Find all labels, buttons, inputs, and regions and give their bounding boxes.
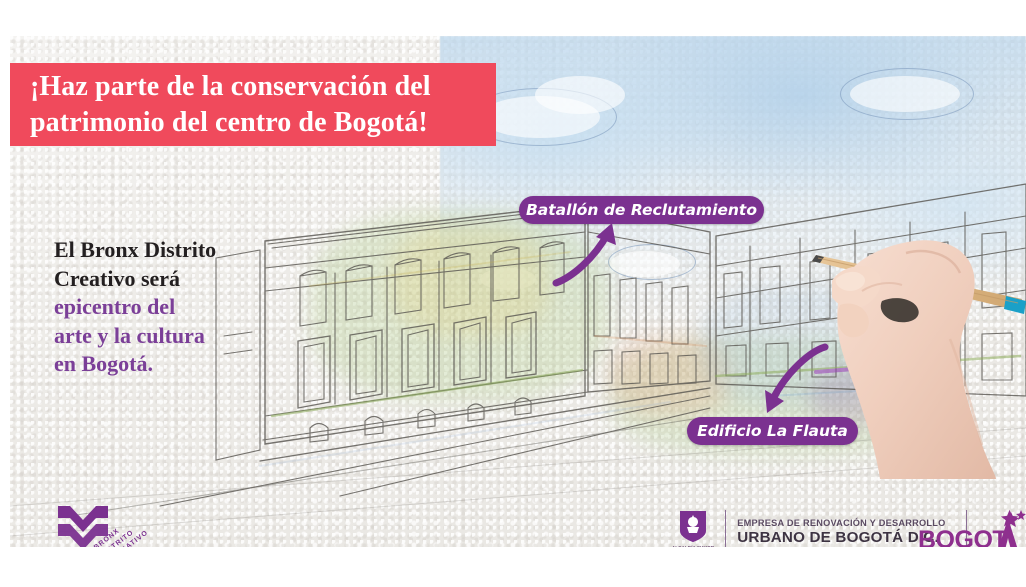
alcaldia-mayor-logo: ALCALDÍA MAYOR DE BOGOTÁ D.C. (672, 509, 714, 547)
body-copy-line-5: en Bogotá. (54, 350, 304, 379)
logo-divider (725, 510, 726, 547)
alcaldia-caption: ALCALDÍA MAYOR DE BOGOTÁ D.C. (672, 545, 714, 547)
body-copy-line-2: Creativo será (54, 265, 304, 294)
body-copy-block: El Bronx Distrito Creativo será epicentr… (54, 236, 304, 379)
eru-wordmark: EMPRESA DE RENOVACIÓN Y DESARROLLO URBAN… (737, 518, 945, 546)
headline-banner: ¡Haz parte de la conservación del patrim… (10, 63, 496, 146)
headline-line-2: patrimonio del centro de Bogotá! (30, 105, 496, 141)
callout-arrow-up-icon (550, 219, 630, 289)
hand-shape (832, 240, 996, 479)
eru-line-1: EMPRESA DE RENOVACIÓN Y DESARROLLO (737, 518, 945, 528)
body-copy-line-4: arte y la cultura (54, 322, 304, 351)
eru-line-2: URBANO DE BOGOTÁ D.C. (737, 529, 945, 546)
alcaldia-shield-icon (678, 509, 708, 543)
body-copy-line-3: epicentro del (54, 293, 304, 322)
promotional-banner-image: ¡Haz parte de la conservación del patrim… (10, 36, 1026, 547)
bogota-city-logo: BOGOT (918, 508, 1026, 547)
body-copy-line-1: El Bronx Distrito (54, 236, 304, 265)
bronx-distrito-creativo-logo: BRONX DISTRITO CREATIVO (52, 498, 152, 547)
alcaldia-caption-line-1: ALCALDÍA MAYOR (672, 545, 714, 547)
headline-line-1: ¡Haz parte de la conservación del (30, 69, 496, 105)
bogota-wordmark-text: BOGOT (918, 526, 1007, 547)
hand-with-pencil-illustration (810, 219, 1026, 479)
